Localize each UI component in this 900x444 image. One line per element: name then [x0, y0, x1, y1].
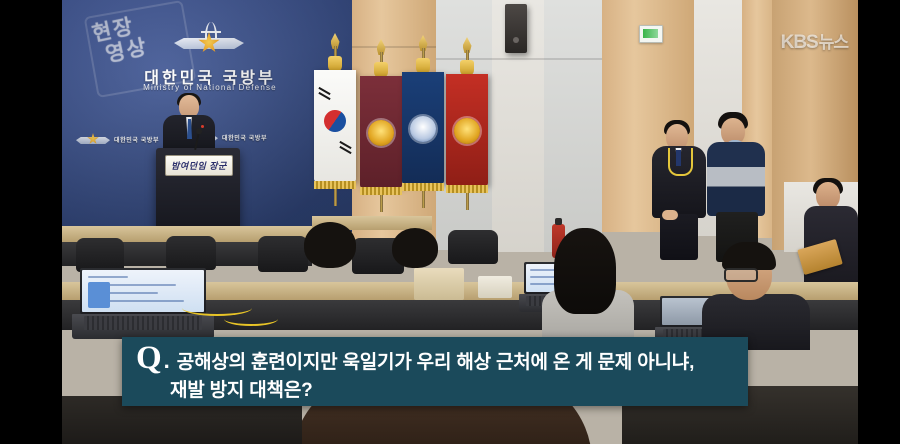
id-lanyard-icon: [668, 148, 693, 176]
marine-crest-icon: [454, 118, 480, 144]
kbs-news-watermark: KBS뉴스: [781, 28, 848, 54]
kbs-brand: KBS: [781, 32, 818, 53]
briefing-podium: 밤여던임 장군: [156, 148, 240, 232]
reporter-hair: [722, 242, 776, 270]
taeguk-circle-icon: [320, 106, 349, 135]
press-chair: [166, 236, 216, 270]
army-crest-icon: [368, 120, 394, 146]
screen-line: [88, 276, 128, 278]
flag-fringe: [402, 183, 444, 191]
podium-nameplate: 밤여던임 장군: [165, 155, 233, 176]
screen-thumbnail: [88, 282, 110, 308]
navy-crest-icon: [410, 116, 436, 142]
mini-label-1: 대한민국 국방부: [114, 135, 159, 144]
speaker-lapel-pin-icon: [201, 125, 204, 128]
flag-fringe: [446, 185, 488, 193]
emblem-anchor-icon: [205, 22, 217, 42]
mnd-org-name-en: Ministry of National Defense: [122, 83, 298, 92]
mnd-org-name-ko: 대한민국 국방부: [122, 64, 298, 88]
standing-man-suit: [650, 118, 708, 258]
eyeglasses-icon: [724, 268, 758, 282]
reporter-woman: [542, 228, 634, 348]
reporter-man-glasses: [702, 248, 810, 348]
mini-star-icon: [87, 133, 99, 145]
press-chair: [448, 230, 498, 264]
broadcast-frame: 현장 영상 대한민국 국방부 Ministry of National Defe…: [0, 0, 900, 444]
kbs-program: 뉴스: [819, 33, 848, 52]
person-trousers: [660, 214, 698, 260]
flag-fringe: [314, 181, 356, 189]
seated-person-head: [304, 222, 356, 268]
question-caption-banner: Q . 공해상의 훈련이지만 욱일기가 우리 해상 근처에 온 게 문제 아니냐…: [122, 337, 748, 406]
ceiling-speaker-icon: [505, 4, 527, 53]
flag-banner: [446, 74, 488, 186]
briefing-speaker-person: [160, 95, 218, 153]
emblem-wings-icon: [174, 38, 244, 49]
flag-banner: [402, 72, 444, 184]
reporter-hair: [554, 228, 616, 314]
mnd-mini-emblem-1: 대한민국 국방부: [76, 128, 138, 154]
laptop-keyboard-deck: [72, 314, 213, 339]
hyunjang-line1: 현장: [90, 15, 136, 46]
flag-banner: [314, 70, 356, 182]
person-striped-sweater: [707, 142, 765, 216]
wall-panel-3: [544, 0, 602, 252]
caption-line-1: 공해상의 훈련이지만 욱일기가 우리 해상 근처에 온 게 문제 아니냐,: [177, 350, 694, 376]
caption-separator: .: [164, 346, 170, 376]
emblem-star-icon: [198, 32, 220, 54]
letterbox-right: [858, 0, 900, 444]
caption-q-marker: Q: [136, 343, 162, 373]
mnd-emblem-icon: [174, 22, 244, 64]
caption-first-row: Q . 공해상의 훈련이지만 욱일기가 우리 해상 근처에 온 게 문제 아니냐…: [122, 337, 748, 376]
cable-2: [224, 312, 278, 326]
marine-flag: [440, 50, 494, 222]
person-head: [816, 182, 840, 209]
hyunjang-watermark: 현장 영상: [90, 6, 188, 88]
letterbox-left: [0, 0, 62, 444]
person-hands: [662, 210, 678, 220]
caption-line-2: 재발 방지 대책은?: [122, 378, 748, 404]
standing-man-sweater: [707, 112, 767, 262]
hyunjang-line2: 영상: [104, 28, 184, 67]
paper-pad: [478, 276, 512, 298]
paper-pad: [414, 268, 464, 300]
mini-label-2: 대한민국 국방부: [222, 133, 267, 142]
press-chair: [258, 236, 308, 272]
press-chair: [76, 238, 124, 272]
emergency-exit-sign-icon: [639, 25, 663, 43]
hyunjang-watermark-box: [84, 0, 197, 98]
laptop-keys: [84, 316, 203, 330]
mini-wings-icon: [76, 137, 110, 144]
seated-person-head: [392, 228, 438, 268]
